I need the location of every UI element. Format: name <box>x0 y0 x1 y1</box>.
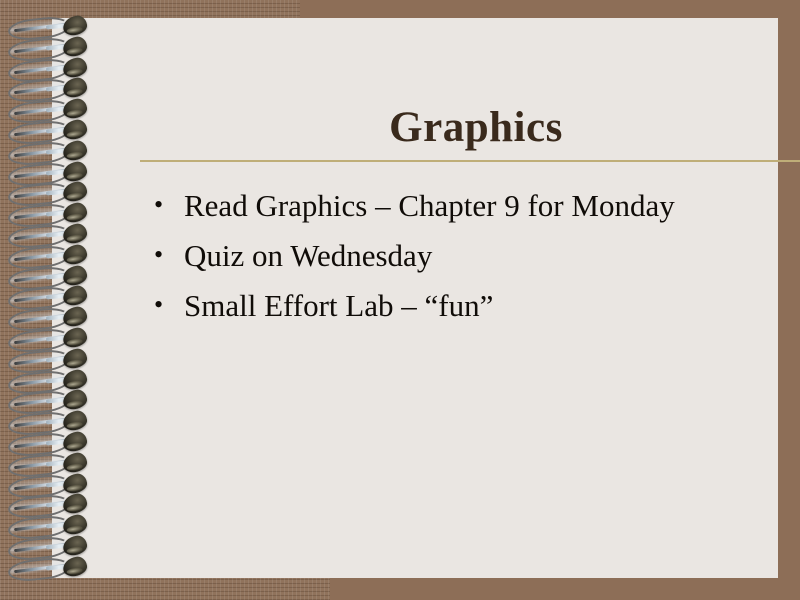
bullet-text: Read Graphics – Chapter 9 for Monday <box>184 190 675 221</box>
notebook-page: Graphics • Read Graphics – Chapter 9 for… <box>52 18 778 578</box>
bullet-point-icon: • <box>148 192 184 218</box>
bullet-point-icon: • <box>148 242 184 268</box>
list-item: • Quiz on Wednesday <box>148 230 800 280</box>
bullet-text: Quiz on Wednesday <box>184 240 432 271</box>
bullet-text: Small Effort Lab – “fun” <box>184 290 493 321</box>
list-item: • Read Graphics – Chapter 9 for Monday <box>148 180 800 230</box>
presentation-slide: Graphics • Read Graphics – Chapter 9 for… <box>0 0 800 600</box>
slide-title: Graphics <box>140 105 800 150</box>
background-texture-top <box>0 0 300 20</box>
bullet-list: • Read Graphics – Chapter 9 for Monday •… <box>148 180 800 330</box>
title-divider-rule <box>140 160 800 162</box>
bullet-point-icon: • <box>148 292 184 318</box>
list-item: • Small Effort Lab – “fun” <box>148 280 800 330</box>
background-texture-left <box>0 0 52 600</box>
